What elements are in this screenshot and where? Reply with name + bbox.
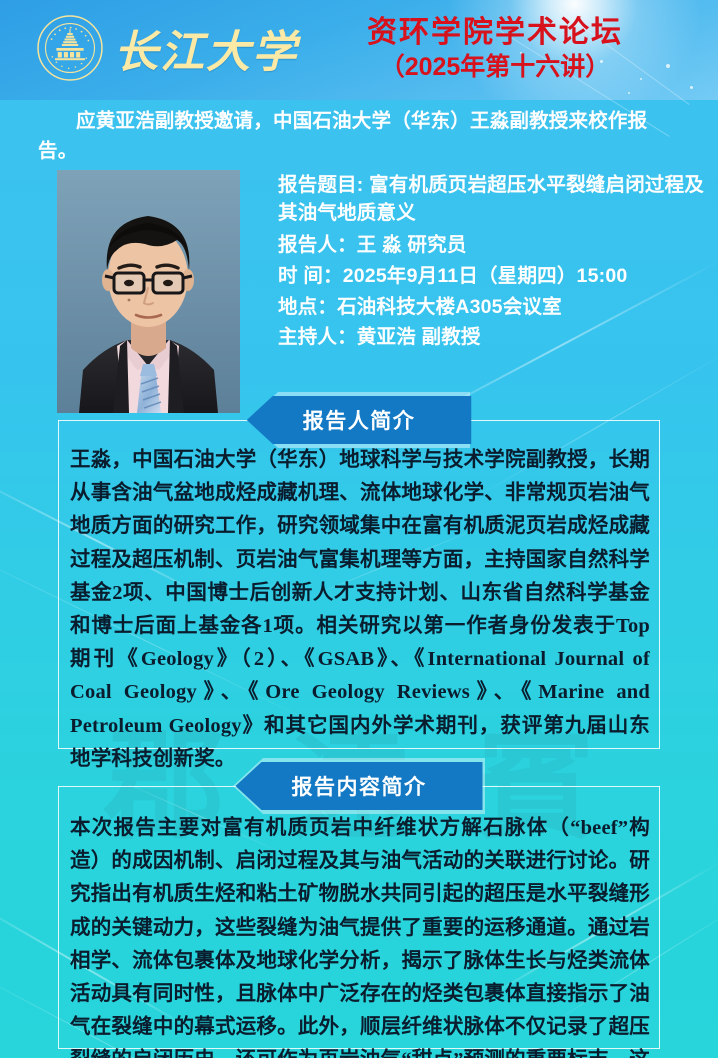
abstract-text: 本次报告主要对富有机质页岩中纤维状方解石脉体（“beef”构造）的成因机制、启闭… (70, 812, 650, 1058)
university-name-text: 长江大学 (114, 16, 298, 80)
university-logo: 长江大学 (36, 14, 298, 82)
info-place: 地点：石油科技大楼A305会议室 (278, 294, 710, 322)
info-topic: 报告题目: 富有机质页岩超压水平裂缝启闭过程及其油气地质意义 (278, 172, 710, 227)
forum-subtitle: （2025年第十六讲） (285, 53, 705, 82)
poster-root: 郡 遠 賓 (0, 0, 718, 1058)
speaker-bio-text: 王淼，中国石油大学（华东）地球科学与技术学院副教授，长期从事含油气盆地成烃成藏机… (70, 444, 650, 776)
event-info-block: 报告题目: 富有机质页岩超压水平裂缝启闭过程及其油气地质意义 报告人：王 淼 研… (278, 172, 710, 355)
portrait-image (57, 170, 240, 413)
invitation-text: 应黄亚浩副教授邀请，中国石油大学（华东）王淼副教授来校作报告。 (38, 106, 686, 166)
forum-title: 资环学院学术论坛 (285, 16, 705, 50)
poster-header: 长江大学 资环学院学术论坛 （2025年第十六讲） (0, 0, 718, 100)
university-seal-icon (36, 14, 104, 82)
forum-title-block: 资环学院学术论坛 （2025年第十六讲） (285, 16, 705, 81)
info-speaker: 报告人：王 淼 研究员 (278, 232, 710, 260)
speaker-portrait (57, 170, 240, 413)
info-host: 主持人：黄亚浩 副教授 (278, 324, 710, 352)
info-time: 时 间：2025年9月11日（星期四）15:00 (278, 263, 710, 291)
